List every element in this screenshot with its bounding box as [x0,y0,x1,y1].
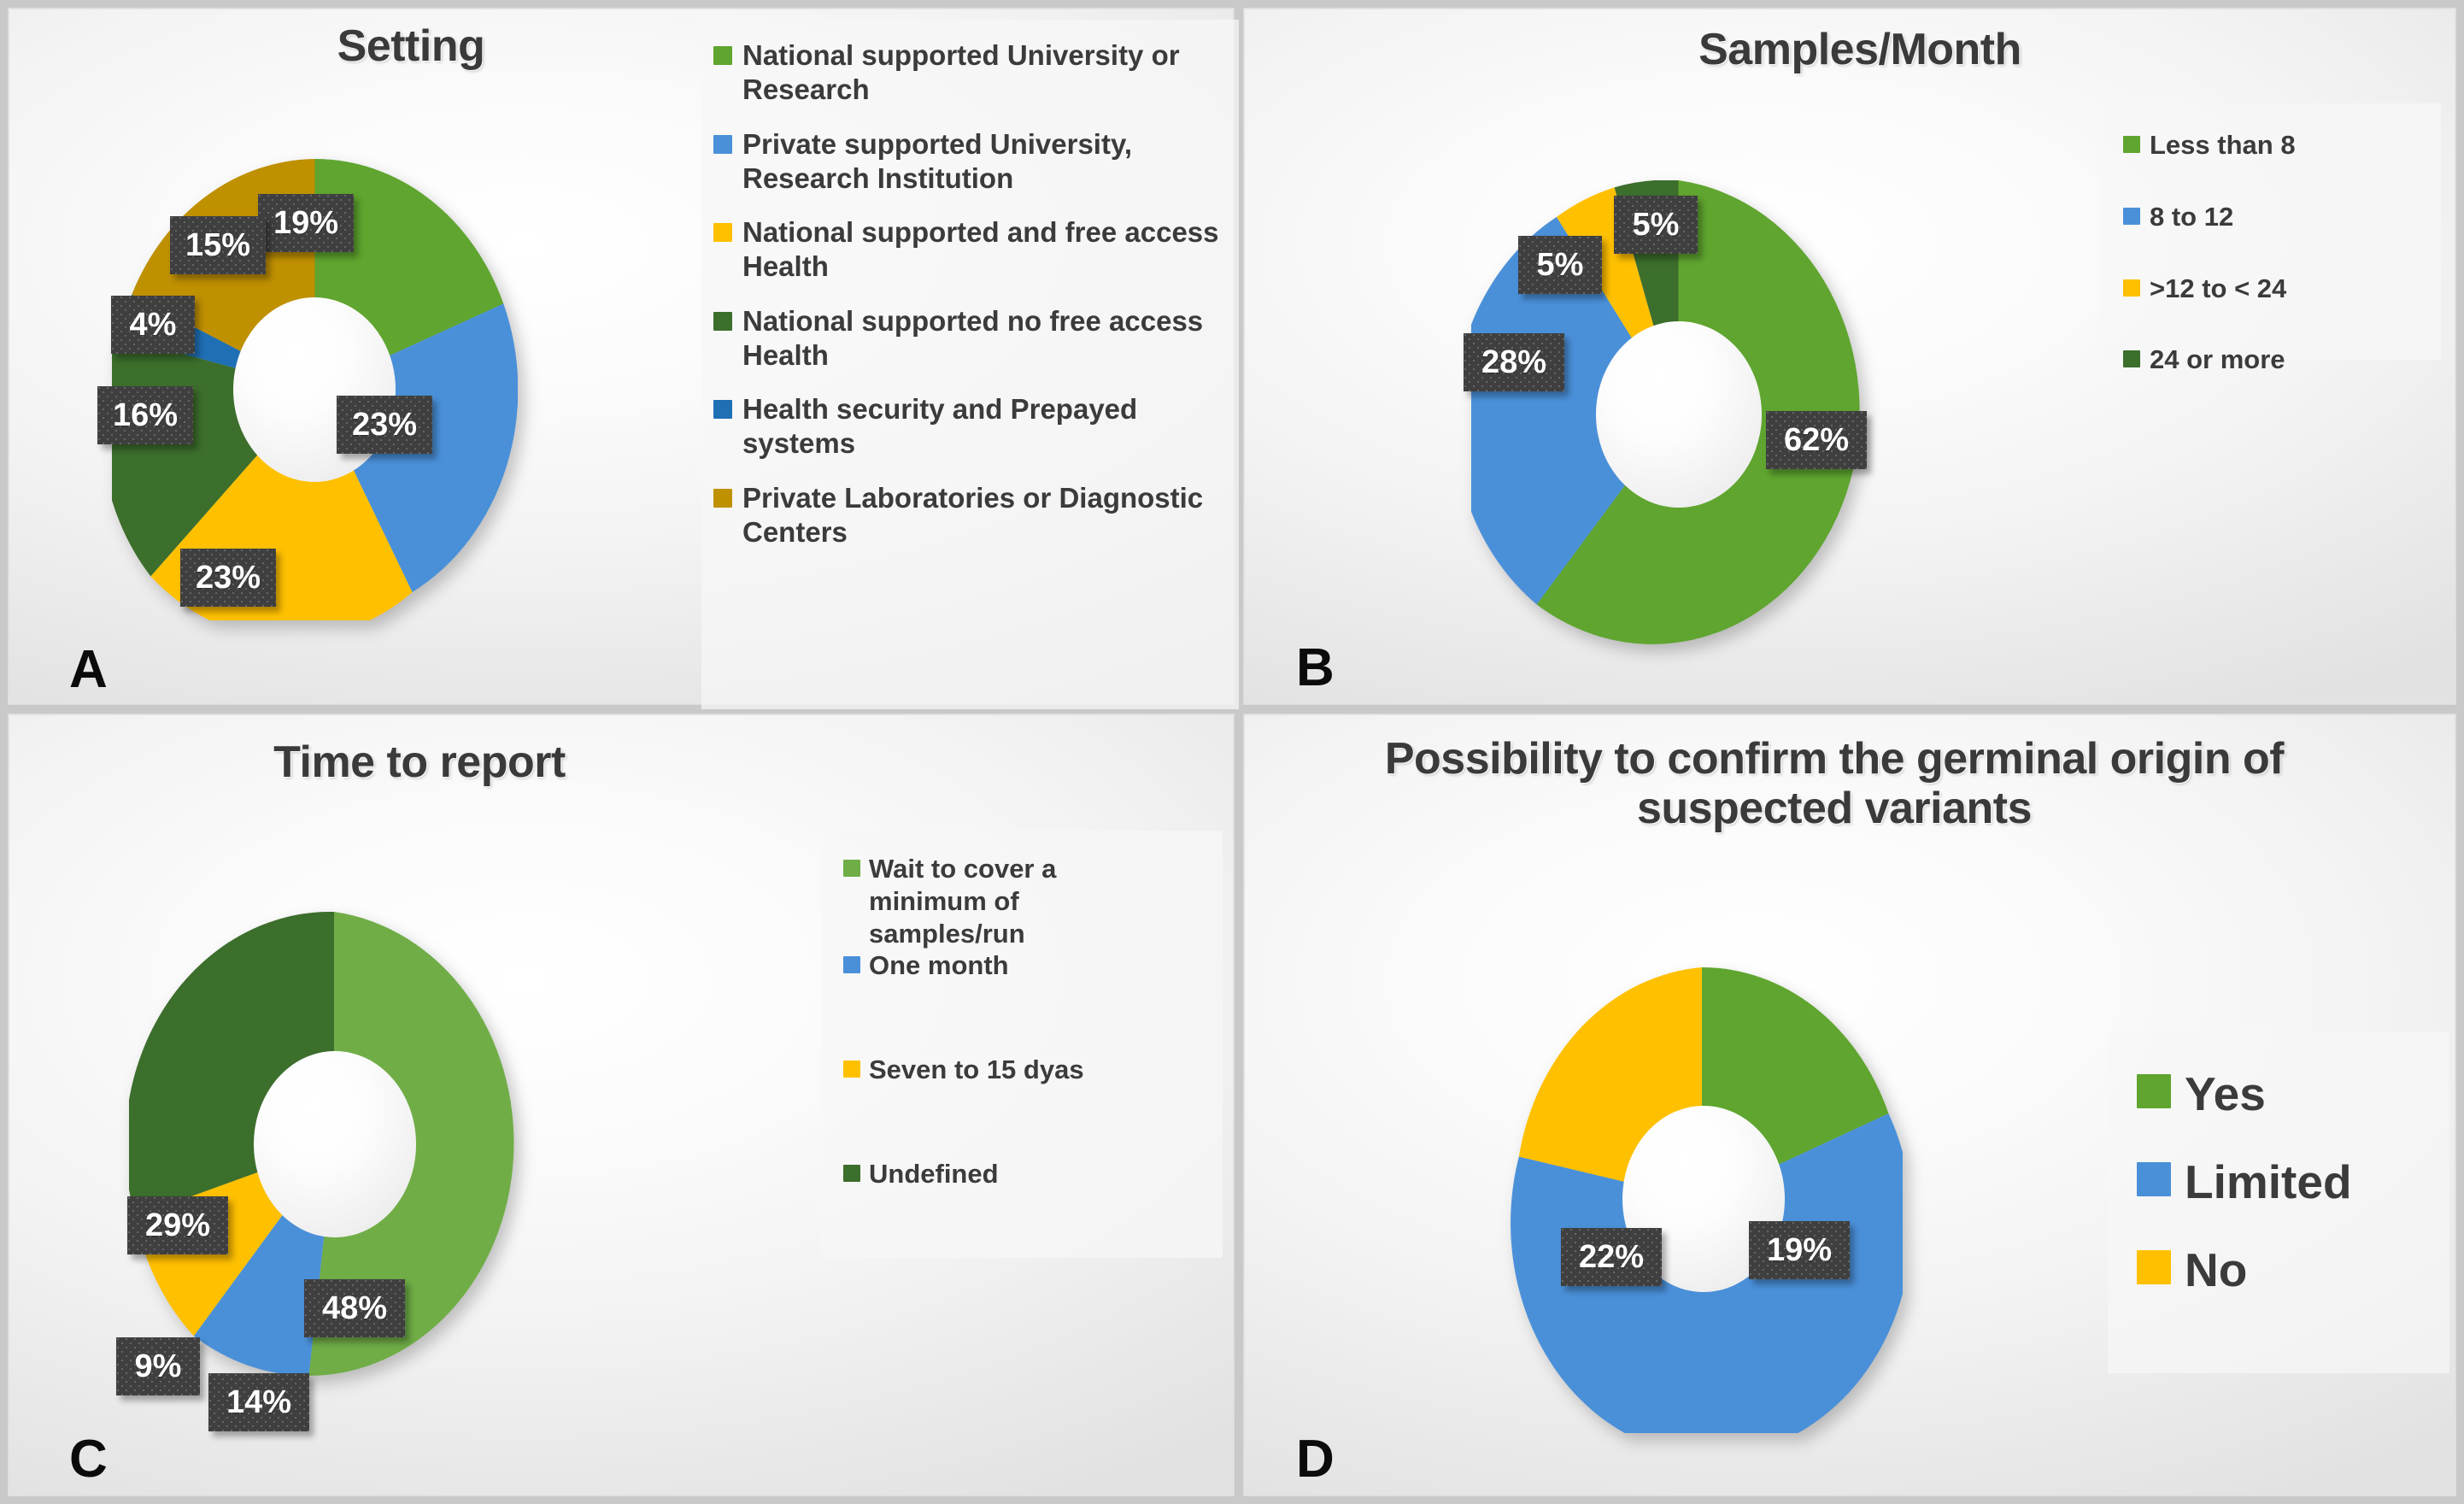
legend-item[interactable]: 24 or more [2123,344,2441,376]
legend-label: Undefined [869,1158,999,1190]
legend-swatch-icon [713,489,732,508]
panel-a: Setting 19% 2 [0,0,1239,709]
panel-d-canvas: Possibility to confirm the germinal orig… [1244,714,2455,1495]
panel-d-donut-chart [1501,967,1903,1433]
panel-d-title: Possibility to confirm the germinal orig… [1313,734,2355,833]
legend-label: Private Laboratories or Diagnostic Cente… [742,481,1229,550]
legend-swatch-icon [2123,279,2140,297]
panel-a-legend: National supported University or Researc… [701,20,1239,709]
panel-d-letter: D [1296,1433,1335,1486]
legend-item[interactable]: No [2137,1242,2449,1299]
data-label-d-0: 19% [1749,1221,1850,1279]
legend-item[interactable]: Seven to 15 dyas [843,1054,1223,1086]
legend-label: >12 to < 24 [2150,273,2286,305]
legend-label: Private supported University, Research I… [742,127,1229,197]
panel-b-legend: Less than 8 8 to 12 >12 to < 24 24 or mo… [2099,103,2441,360]
data-label-b-0: 62% [1766,411,1867,469]
legend-swatch-icon [713,135,732,154]
panel-b-letter: B [1296,642,1335,695]
legend-swatch-icon [713,312,732,331]
panel-a-canvas: Setting 19% 2 [9,9,1234,704]
panel-a-title: Setting [112,21,710,71]
legend-label: Limited [2185,1154,2352,1211]
data-label-d-2: 22% [1561,1228,1662,1286]
legend-item[interactable]: Health security and Prepayed systems [713,392,1229,461]
figure-panel-grid: Setting 19% 2 [0,0,2464,1504]
legend-swatch-icon [843,1165,860,1182]
legend-swatch-icon [713,46,732,65]
legend-item[interactable]: Wait to cover a minimum of samples/run [843,853,1223,949]
panel-c-title: Time to report [120,737,719,787]
legend-item[interactable]: Private supported University, Research I… [713,127,1229,197]
panel-c-canvas: Time to report 48% 14% 9% 29% [9,714,1234,1495]
data-label-c-3: 29% [127,1196,228,1254]
panel-c-legend: Wait to cover a minimum of samples/run O… [821,831,1223,1258]
data-label-b-3: 5% [1614,196,1698,254]
panel-d-legend: Yes Limited No [2108,1031,2449,1373]
data-label-b-2: 5% [1518,236,1602,294]
data-label-b-1: 28% [1464,333,1564,391]
panel-b-canvas: Samples/Month 62% 28% 5% 5% [1244,9,2455,704]
legend-item[interactable]: Undefined [843,1158,1223,1190]
legend-swatch-icon [2123,208,2140,225]
legend-label: 24 or more [2150,344,2285,376]
legend-label: Health security and Prepayed systems [742,392,1229,461]
legend-label: Wait to cover a minimum of samples/run [869,853,1091,949]
legend-item[interactable]: 8 to 12 [2123,201,2441,233]
panel-c-donut-hole [254,1051,416,1237]
data-label-c-0: 48% [304,1279,405,1337]
data-label-a-2: 23% [180,549,276,607]
legend-label: Less than 8 [2150,129,2296,162]
panel-b-title: Samples/Month [1501,25,2219,74]
legend-swatch-icon [2137,1250,2171,1284]
legend-item[interactable]: National supported and free access Healt… [713,215,1229,285]
legend-item[interactable]: Yes [2137,1066,2449,1123]
legend-item[interactable]: Limited [2137,1154,2449,1211]
legend-item[interactable]: >12 to < 24 [2123,273,2441,305]
panel-a-donut-hole [233,297,396,482]
panel-d: Possibility to confirm the germinal orig… [1239,709,2464,1504]
panel-b: Samples/Month 62% 28% 5% 5% [1239,0,2464,709]
panel-b-donut-hole [1596,321,1762,508]
legend-swatch-icon [2137,1074,2171,1108]
legend-label: No [2185,1242,2247,1299]
legend-label: 8 to 12 [2150,201,2233,233]
legend-swatch-icon [843,860,860,877]
data-label-a-0: 19% [258,194,354,252]
data-label-a-3: 16% [97,386,193,444]
data-label-a-5: 15% [170,216,266,274]
legend-item[interactable]: Less than 8 [2123,129,2441,162]
legend-label: Seven to 15 dyas [869,1054,1084,1086]
data-label-a-4: 4% [111,296,195,354]
data-label-c-2: 9% [116,1337,200,1395]
legend-swatch-icon [843,956,860,973]
panel-c: Time to report 48% 14% 9% 29% [0,709,1239,1504]
legend-label: National supported no free access Health [742,304,1229,373]
data-label-c-1: 14% [208,1373,309,1431]
legend-swatch-icon [713,223,732,242]
legend-swatch-icon [2123,136,2140,153]
legend-item[interactable]: One month [843,949,1223,982]
legend-label: National supported and free access Healt… [742,215,1229,285]
legend-swatch-icon [843,1060,860,1078]
legend-label: National supported University or Researc… [742,38,1229,108]
panel-c-letter: C [69,1433,108,1486]
legend-swatch-icon [713,400,732,419]
legend-swatch-icon [2123,350,2140,367]
legend-label: One month [869,949,1009,982]
legend-item[interactable]: Private Laboratories or Diagnostic Cente… [713,481,1229,550]
data-label-a-1: 23% [337,396,432,454]
panel-a-letter: A [69,643,108,696]
legend-label: Yes [2185,1066,2266,1123]
legend-item[interactable]: National supported University or Researc… [713,38,1229,108]
legend-swatch-icon [2137,1162,2171,1196]
legend-item[interactable]: National supported no free access Health [713,304,1229,373]
